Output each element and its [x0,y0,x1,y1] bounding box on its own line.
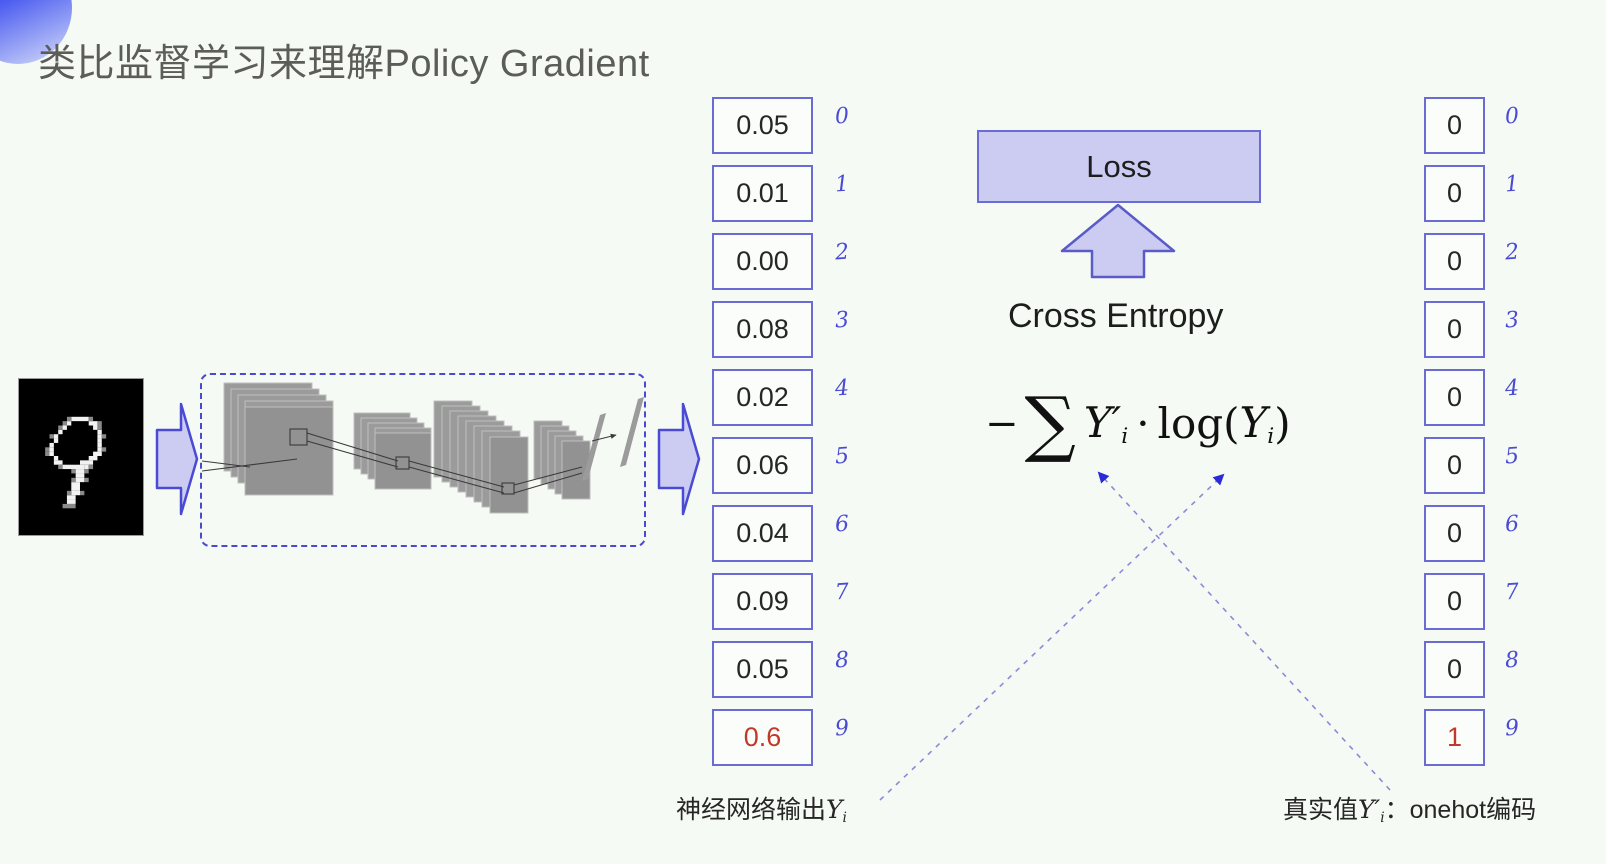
vector-row: 0.02 4 [712,369,849,426]
target-index-label: 8 [1504,648,1520,674]
connector-output-to-log [880,476,1222,800]
output-cell[interactable]: 0.05 [712,97,813,154]
target-onehot-vector: 0 0 0 1 0 2 0 3 0 4 0 5 0 6 0 7 [1424,97,1519,766]
page-title: 类比监督学习来理解Policy Gradient [38,32,650,87]
cnn-layers-illustration [202,375,644,545]
formula-sigma: ∑ [1025,398,1076,448]
target-cell[interactable]: 0 [1424,301,1485,358]
formula-dot-operator: · [1136,399,1149,448]
output-cell[interactable]: 0.01 [712,165,813,222]
output-index-label: 3 [834,308,850,334]
loss-box[interactable]: Loss [977,130,1261,203]
target-index-label: 1 [1504,172,1520,198]
output-index-label: 5 [834,444,850,470]
target-cell[interactable]: 0 [1424,505,1485,562]
target-cell[interactable]: 0 [1424,641,1485,698]
output-index-label: 8 [834,648,850,674]
caption-right-symbol-base: Y [1358,795,1375,824]
vector-row: 0.00 2 [712,233,849,290]
target-cell[interactable]: 0 [1424,97,1485,154]
output-cell[interactable]: 0.06 [712,437,813,494]
target-cell[interactable]: 0 [1424,233,1485,290]
arrow-image-to-network [155,400,199,518]
vector-row: 0.6 9 [712,709,849,766]
output-cell[interactable]: 0.04 [712,505,813,562]
output-index-label: 7 [834,580,850,606]
vector-row: 0 4 [1424,369,1519,426]
formula-prime: ′ [1112,398,1122,447]
target-index-label: 7 [1504,580,1520,606]
formula-y-base-2: Y [1240,398,1268,447]
target-cell[interactable]: 0 [1424,573,1485,630]
vector-row: 0.06 5 [712,437,849,494]
target-index-label: 6 [1504,512,1520,538]
output-cell[interactable]: 0.05 [712,641,813,698]
caption-left-symbol-base: Y [826,795,843,824]
vector-row: 0 7 [1424,573,1519,630]
caption-network-output: 神经网络输出Yi [676,790,847,826]
target-index-label: 4 [1504,376,1520,402]
formula-minus: − [985,401,1019,447]
cross-entropy-label: Cross Entropy [1008,297,1223,336]
formula-term-ytrue: Y′i [1084,398,1128,449]
mnist-digit-image [18,378,144,536]
target-index-label: 5 [1504,444,1520,470]
target-index-label: 3 [1504,308,1520,334]
vector-row: 0.04 6 [712,505,849,562]
vector-row: 0 8 [1424,641,1519,698]
target-index-label: 0 [1504,104,1520,130]
connector-target-to-yprime [1100,474,1390,790]
caption-right-text: 真实值 [1283,796,1358,824]
caption-ground-truth: 真实值Y′i：onehot编码 [1283,790,1536,826]
output-index-label: 6 [834,512,850,538]
output-index-label: 2 [834,240,850,266]
output-index-label: 9 [834,716,850,742]
target-index-label: 9 [1504,716,1520,742]
output-cell[interactable]: 0.08 [712,301,813,358]
output-cell[interactable]: 0.09 [712,573,813,630]
target-index-label: 2 [1504,240,1520,266]
output-index-label: 0 [834,104,850,130]
output-index-label: 4 [834,376,850,402]
vector-row: 1 9 [1424,709,1519,766]
formula-y-base: Y [1084,398,1112,447]
vector-row: 0.05 0 [712,97,849,154]
vector-row: 0.08 3 [712,301,849,358]
caption-right-symbol: Y′i [1358,795,1385,824]
vector-row: 0 3 [1424,301,1519,358]
formula-sub-i: i [1121,424,1128,449]
formula-close-paren: ) [1274,399,1290,448]
arrow-up-to-loss [1058,203,1178,279]
vector-row: 0 5 [1424,437,1519,494]
caption-left-symbol-sub: i [843,810,847,826]
output-probability-vector: 0.05 0 0.01 1 0.00 2 0.08 3 0.02 4 0.06 … [712,97,849,766]
slide-canvas: 类比监督学习来理解Policy Gradient [0,0,1606,864]
vector-row: 0.05 8 [712,641,849,698]
formula-sub-i-2: i [1267,424,1274,449]
vector-row: 0 2 [1424,233,1519,290]
vector-row: 0 1 [1424,165,1519,222]
target-cell[interactable]: 0 [1424,165,1485,222]
vector-row: 0.09 7 [712,573,849,630]
output-cell[interactable]: 0.00 [712,233,813,290]
caption-left-symbol: Yi [826,795,847,824]
output-cell-highlighted[interactable]: 0.6 [712,709,813,766]
vector-row: 0.01 1 [712,165,849,222]
target-cell-highlighted[interactable]: 1 [1424,709,1485,766]
output-index-label: 1 [834,172,850,198]
cnn-architecture-box [200,373,646,547]
formula-term-ypred: Yi [1240,398,1275,449]
target-cell[interactable]: 0 [1424,437,1485,494]
caption-right-suffix: ：onehot编码 [1385,796,1536,824]
arrow-network-to-output [657,400,701,518]
target-cell[interactable]: 0 [1424,369,1485,426]
output-cell[interactable]: 0.02 [712,369,813,426]
formula-log: log( [1158,399,1240,448]
caption-left-text: 神经网络输出 [676,796,826,824]
vector-row: 0 0 [1424,97,1519,154]
cross-entropy-formula: − ∑ Y′i · log( Yi ) [985,398,1291,449]
vector-row: 0 6 [1424,505,1519,562]
